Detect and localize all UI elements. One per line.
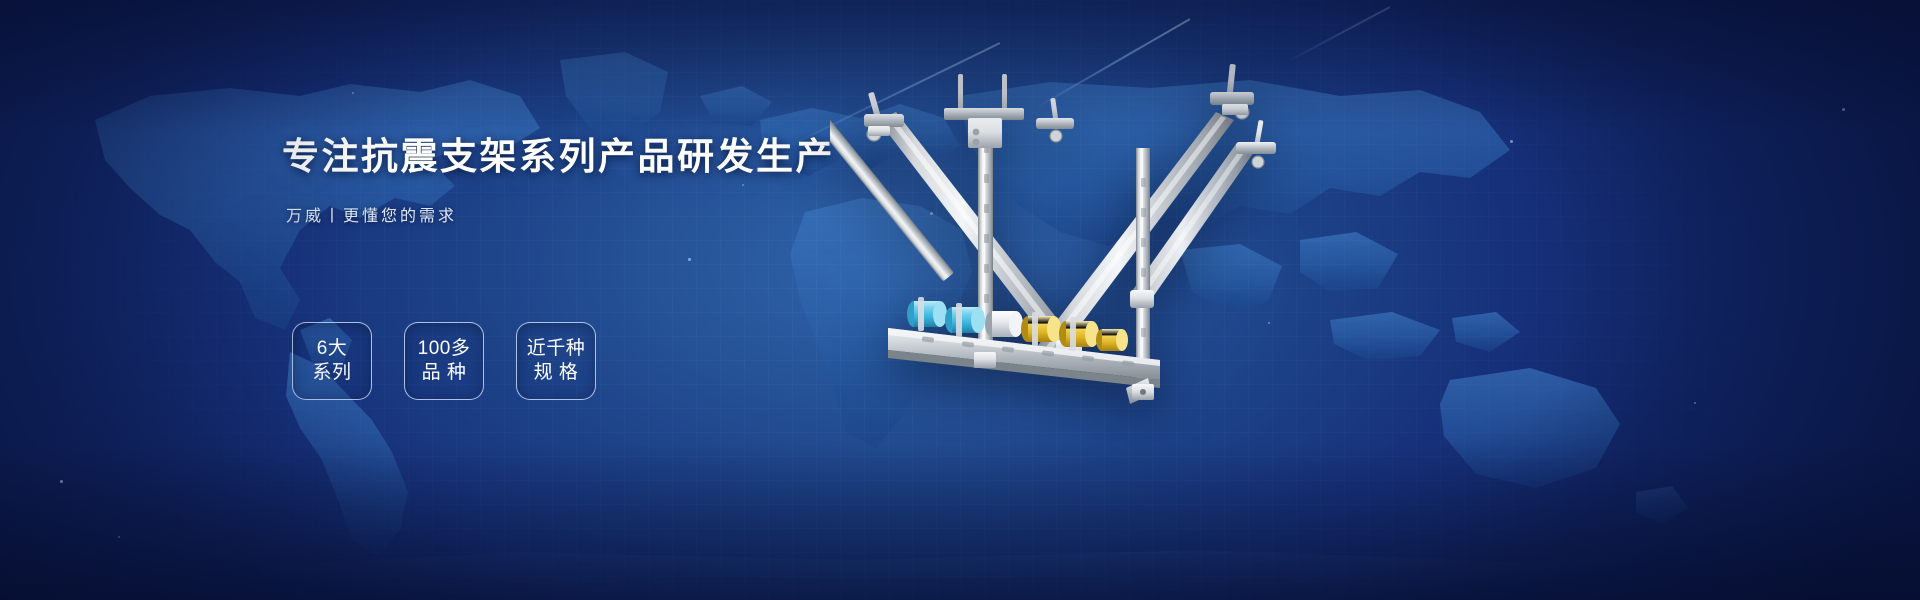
hero-banner: 专注抗震支架系列产品研发生产 万威丨更懂您的需求 6大 系列 100多 品 种 … [0,0,1920,600]
vignette-overlay [0,0,1920,600]
